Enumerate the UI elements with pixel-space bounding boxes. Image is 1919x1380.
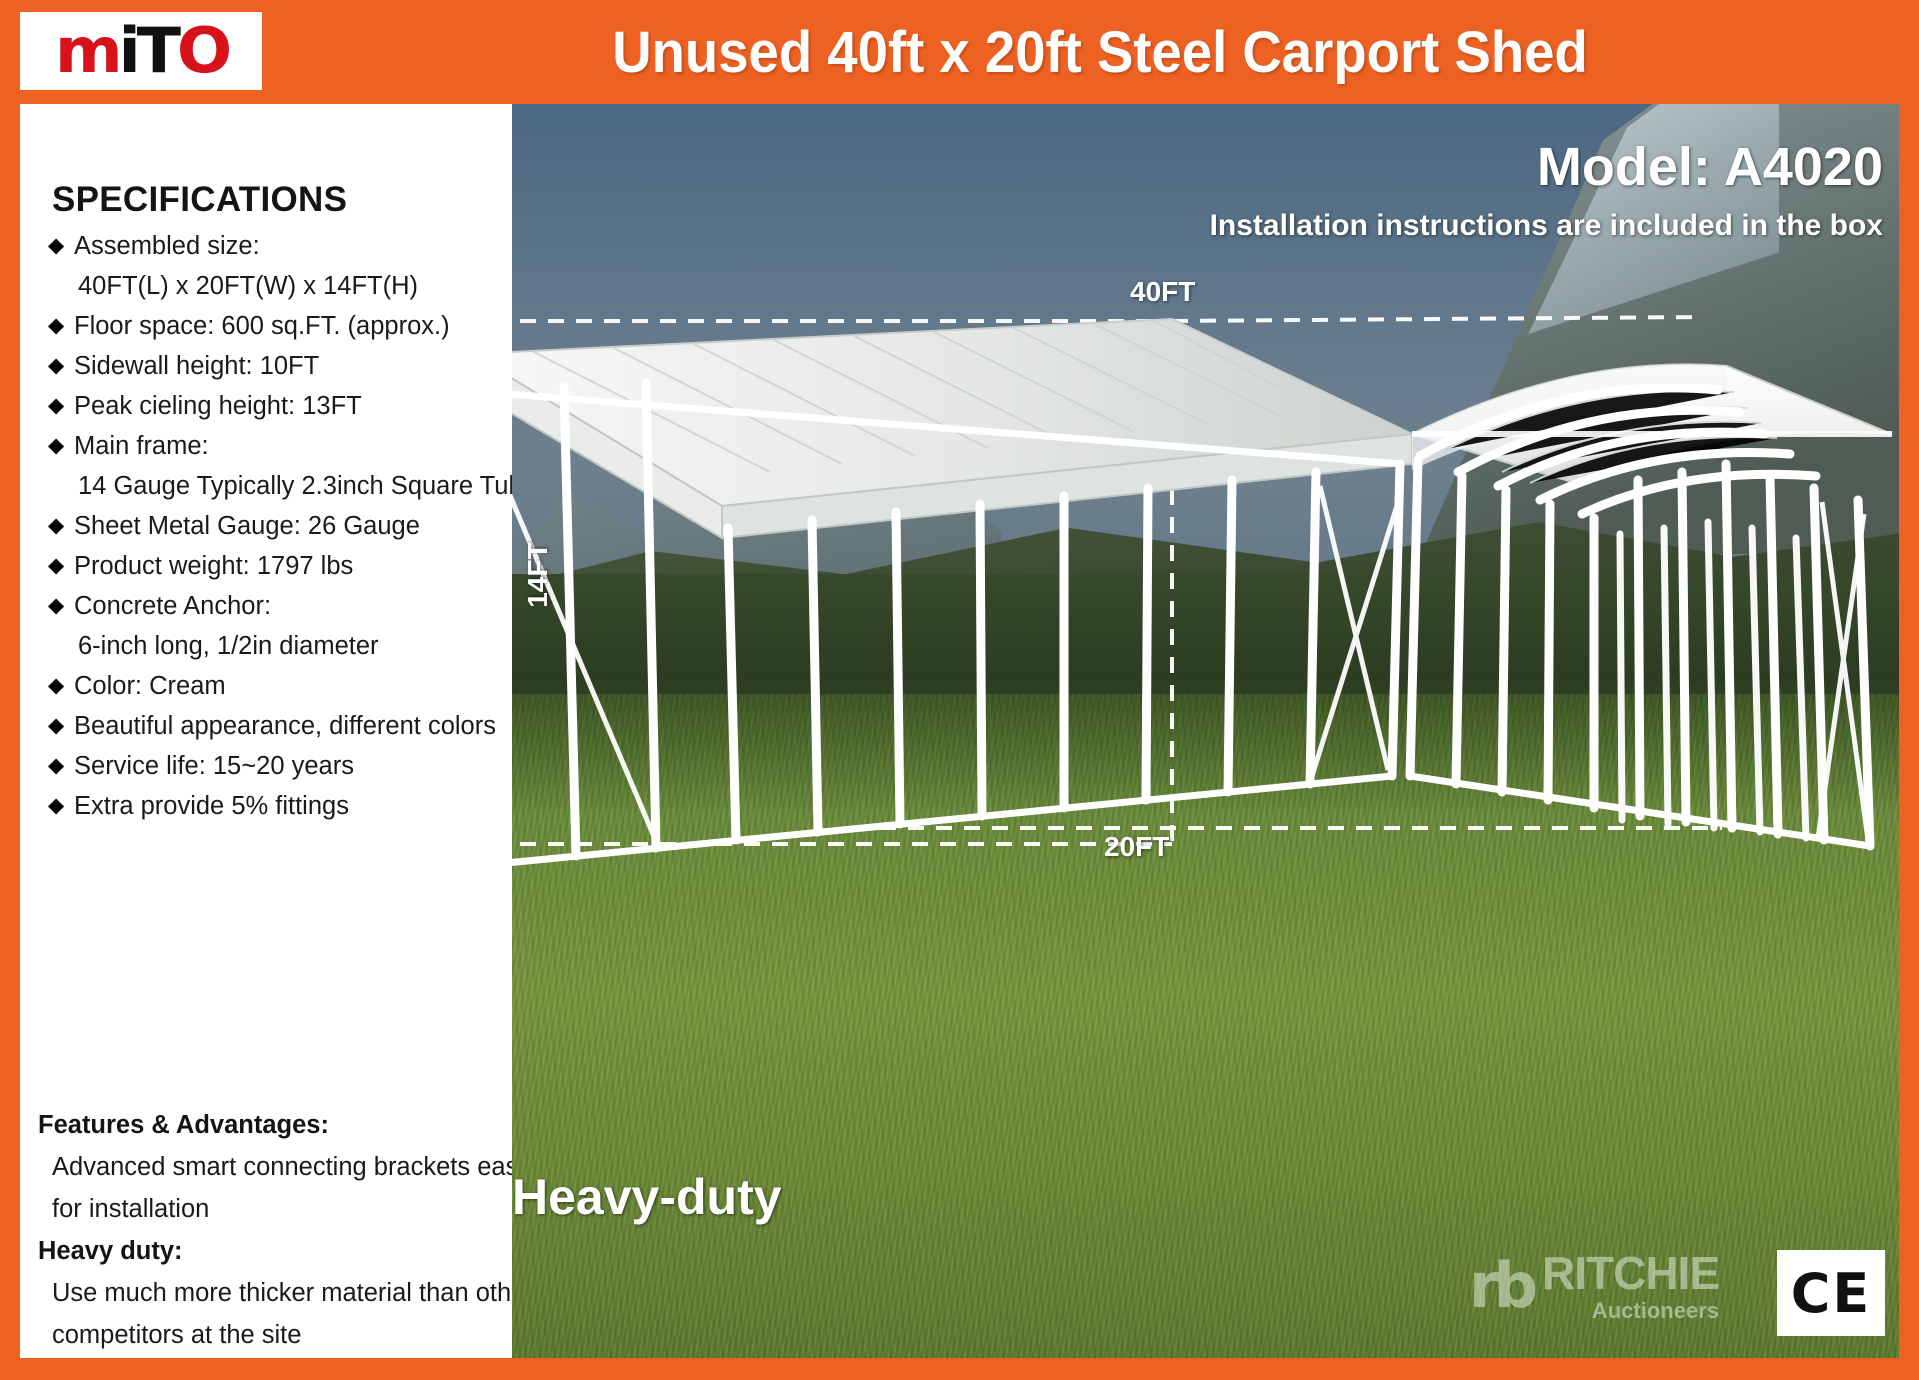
page-title: Unused 40ft x 20ft Steel Carport Shed (348, 8, 1852, 96)
spec-item-label: Product weight: 1797 lbs (74, 546, 353, 586)
diamond-bullet-icon: ◆ (48, 786, 74, 826)
spec-item-label: Sheet Metal Gauge: 26 Gauge (74, 506, 420, 546)
spec-item-label: Service life: 15~20 years (74, 746, 354, 786)
spec-item-label: Assembled size: (74, 226, 260, 266)
mito-logo: miTO (20, 12, 262, 90)
specifications-panel: SPECIFICATIONS ◆ Assembled size: 40FT(L)… (20, 104, 512, 1358)
installation-note: Installation instructions are included i… (1210, 209, 1883, 243)
diamond-bullet-icon: ◆ (48, 346, 74, 386)
features-line-1: Advanced smart connecting brackets easy (38, 1146, 512, 1188)
logo-letter-it: iT (118, 20, 176, 82)
diamond-bullet-icon: ◆ (48, 746, 74, 786)
diamond-bullet-icon: ◆ (48, 706, 74, 746)
dimension-label-height: 14FT (522, 475, 554, 675)
ce-mark-badge: CE (1777, 1250, 1885, 1336)
diamond-bullet-icon: ◆ (48, 306, 74, 346)
features-line-2: for installation (38, 1188, 512, 1230)
spec-item-sub: 6-inch long, 1/2in diameter (48, 626, 512, 666)
ce-mark-text: CE (1791, 1262, 1872, 1325)
spec-item: ◆ Beautiful appearance, different colors (48, 706, 512, 746)
logo-letter-o: O (176, 20, 227, 82)
spec-item-sub: 14 Gauge Typically 2.3inch Square Tube (48, 466, 512, 506)
features-heading: Features & Advantages: (38, 1104, 512, 1146)
diamond-bullet-icon: ◆ (48, 586, 74, 626)
spec-item: ◆ Main frame: (48, 426, 512, 466)
dimension-label-length: 40FT (1130, 276, 1195, 308)
diamond-bullet-icon: ◆ (48, 506, 74, 546)
ritchie-bros-watermark: rb RITCHIE Auctioneers (1469, 1250, 1719, 1322)
spec-item-label: Beautiful appearance, different colors (74, 706, 496, 746)
spec-item: ◆ Extra provide 5% fittings (48, 786, 512, 826)
spec-item-label: Color: Cream (74, 666, 226, 706)
spec-item-label: Peak cieling height: 13FT (74, 386, 362, 426)
features-line-3: Use much more thicker material than othe… (38, 1272, 512, 1314)
spec-item-sub: 40FT(L) x 20FT(W) x 14FT(H) (48, 266, 512, 306)
logo-letter-m: m (54, 20, 118, 82)
spec-item-label: Floor space: 600 sq.FT. (approx.) (74, 306, 450, 346)
rb-logo-icon: rb (1469, 1258, 1532, 1314)
spec-item-label: Main frame: (74, 426, 209, 466)
spec-item: ◆ Sidewall height: 10FT (48, 346, 512, 386)
diamond-bullet-icon: ◆ (48, 426, 74, 466)
diamond-bullet-icon: ◆ (48, 666, 74, 706)
diamond-bullet-icon: ◆ (48, 546, 74, 586)
dimension-label-width: 20FT (1104, 831, 1169, 863)
spec-item: ◆ Product weight: 1797 lbs (48, 546, 512, 586)
spec-item-label: Concrete Anchor: (74, 586, 271, 626)
header-bar: miTO Unused 40ft x 20ft Steel Carport Sh… (0, 0, 1919, 104)
spec-item: ◆ Color: Cream (48, 666, 512, 706)
heavy-duty-caption: Heavy-duty (512, 1168, 782, 1226)
spec-item-label: Sidewall height: 10FT (74, 346, 319, 386)
specifications-list: ◆ Assembled size: 40FT(L) x 20FT(W) x 14… (48, 226, 512, 826)
product-photo: Model: A4020 Installation instructions a… (512, 104, 1899, 1358)
features-line-4: competitors at the site (38, 1314, 512, 1356)
watermark-main: RITCHIE (1542, 1250, 1719, 1296)
features-advantages-block: Features & Advantages: Advanced smart co… (38, 1104, 512, 1356)
spec-item: ◆ Service life: 15~20 years (48, 746, 512, 786)
model-label: Model: A4020 (1537, 136, 1883, 198)
spec-item: ◆ Peak cieling height: 13FT (48, 386, 512, 426)
spec-item: ◆ Sheet Metal Gauge: 26 Gauge (48, 506, 512, 546)
watermark-text: RITCHIE Auctioneers (1542, 1250, 1719, 1322)
spec-item: ◆ Concrete Anchor: (48, 586, 512, 626)
spec-item-label: Extra provide 5% fittings (74, 786, 349, 826)
watermark-sub: Auctioneers (1542, 1300, 1719, 1322)
spec-item: ◆ Floor space: 600 sq.FT. (approx.) (48, 306, 512, 346)
product-spec-sheet: miTO Unused 40ft x 20ft Steel Carport Sh… (0, 0, 1919, 1380)
heavy-duty-subheading: Heavy duty: (38, 1230, 512, 1272)
specifications-heading: SPECIFICATIONS (52, 180, 347, 220)
diamond-bullet-icon: ◆ (48, 386, 74, 426)
diamond-bullet-icon: ◆ (48, 226, 74, 266)
mito-logo-text: miTO (54, 20, 227, 82)
spec-item: ◆ Assembled size: (48, 226, 512, 266)
